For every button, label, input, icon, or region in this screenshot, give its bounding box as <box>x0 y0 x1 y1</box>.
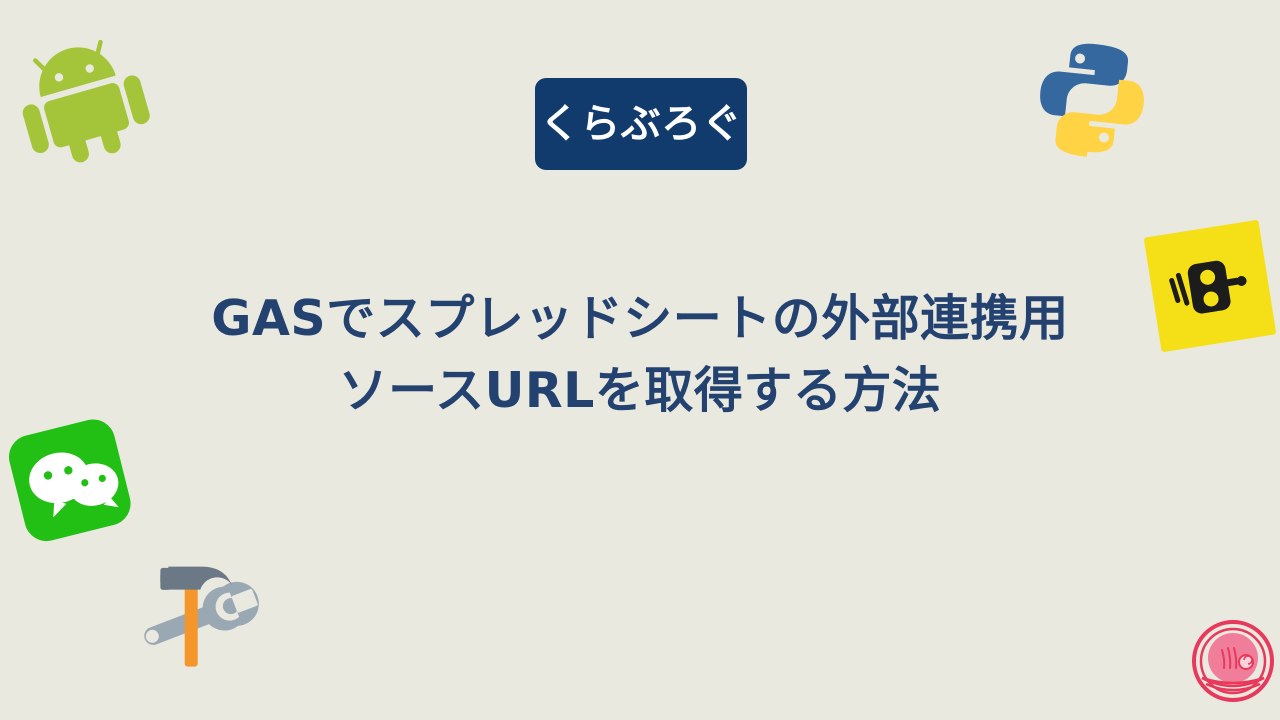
page-title: GASでスプレッドシートの外部連携用 ソースURLを取得する方法 <box>0 283 1280 427</box>
brand-logo-text: くらぶろぐ <box>540 104 743 144</box>
ramen-emblem-icon <box>1192 620 1274 702</box>
wechat-icon <box>0 407 147 556</box>
hammer-wrench-icon <box>129 548 275 669</box>
title-card: くらぶろぐ GASでスプレッドシートの外部連携用 ソースURLを取得する方法 <box>0 0 1280 720</box>
android-icon <box>1 17 161 176</box>
python-icon <box>1026 32 1158 164</box>
page-title-line-1: GASでスプレッドシートの外部連携用 <box>0 283 1280 355</box>
brand-logo-badge[interactable]: くらぶろぐ <box>535 78 747 170</box>
page-title-line-2: ソースURLを取得する方法 <box>0 355 1280 427</box>
